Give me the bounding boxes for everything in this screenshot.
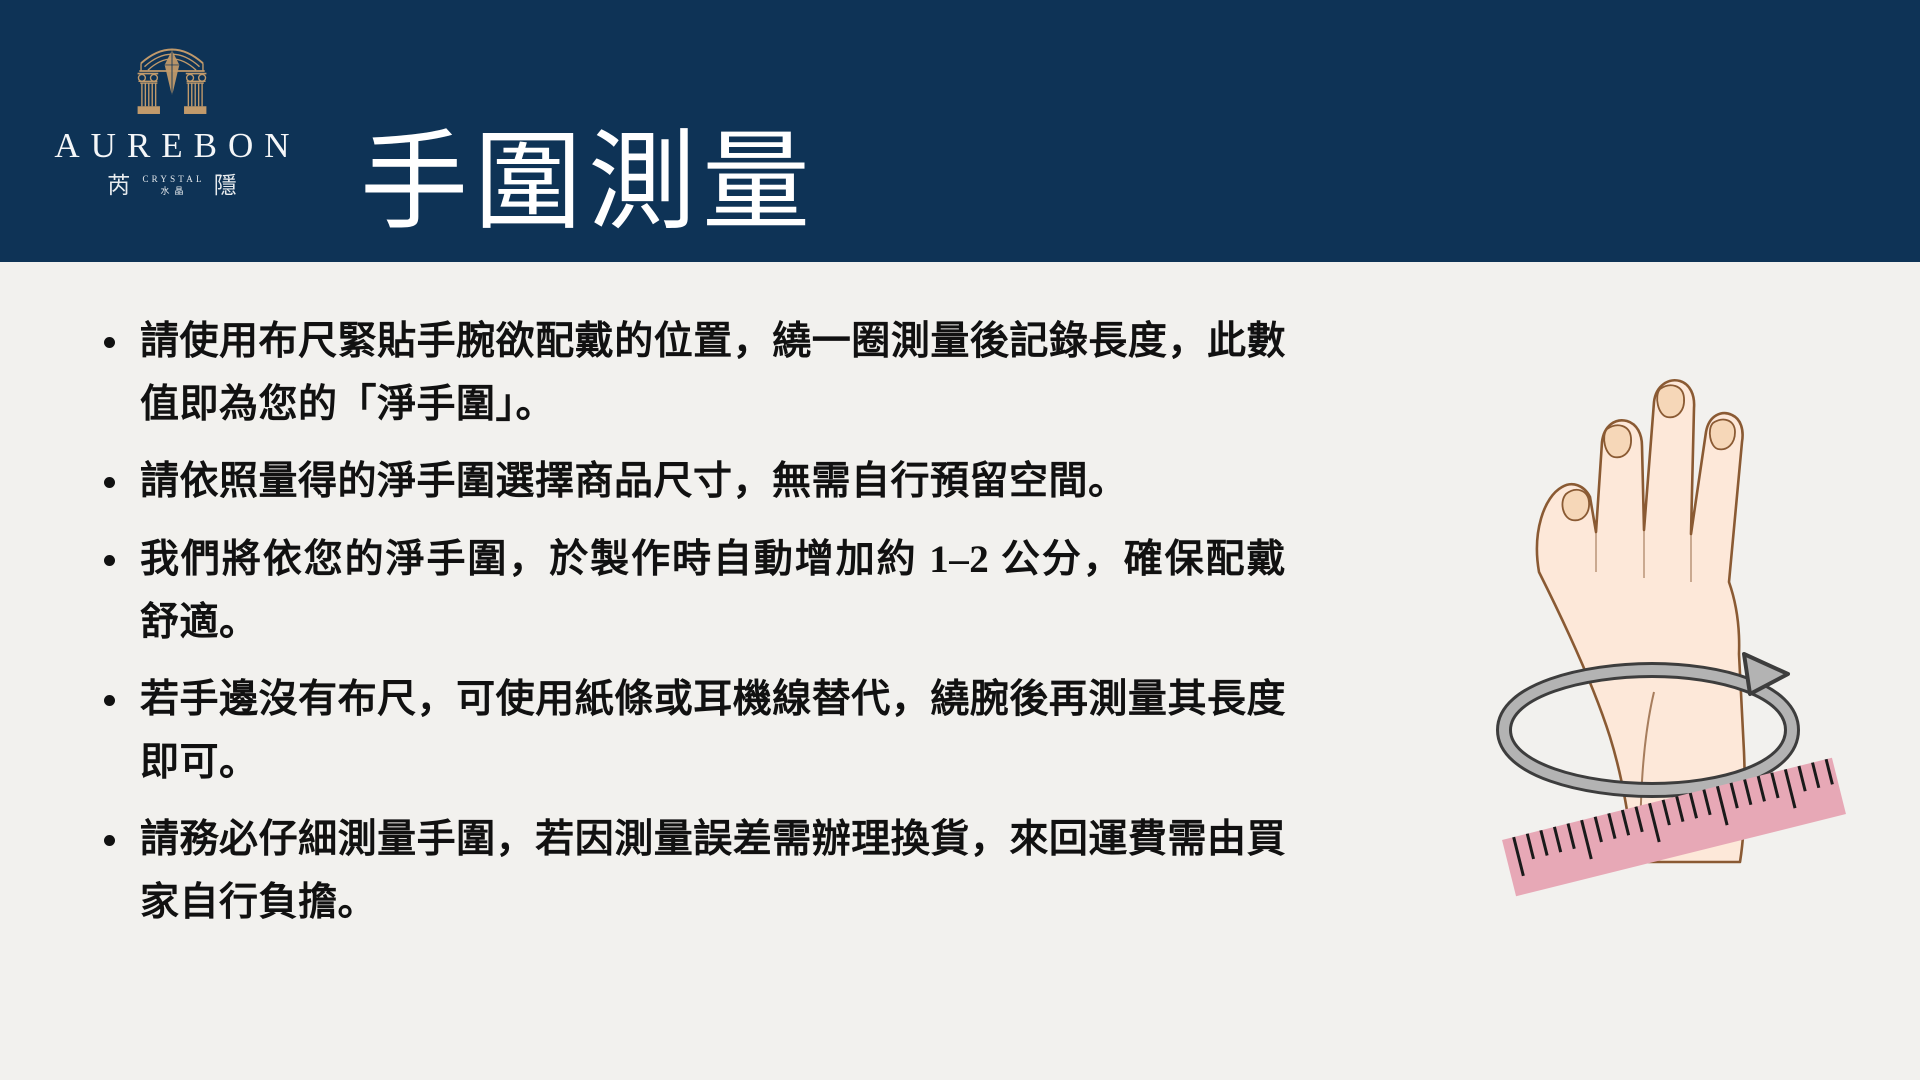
list-item: 請依照量得的淨手圍選擇商品尺寸，無需自行預留空間。: [96, 450, 1286, 513]
brand-cn-first: 芮: [107, 174, 130, 197]
brand-cn-last: 隱: [214, 174, 237, 197]
brand-cn-small: 水晶: [155, 187, 188, 196]
nail: [1710, 420, 1735, 450]
size-guide-page: AUREBON 芮 CRYSTAL 水晶 隱 手圍測量 請使用布尺緊貼手腕欲配戴…: [0, 0, 1920, 1080]
page-content: 請使用布尺緊貼手腕欲配戴的位置，繞一圈測量後記錄長度，此數值即為您的「淨手圍」。…: [0, 262, 1920, 1080]
arch-pillars-crystal-icon: [129, 34, 215, 120]
list-item: 若手邊沒有布尺，可使用紙條或耳機線替代，繞腕後再測量其長度即可。: [96, 668, 1286, 794]
nail: [1562, 490, 1589, 520]
brand-en-small: CRYSTAL: [139, 175, 204, 184]
brand-subtitle: 芮 CRYSTAL 水晶 隱: [107, 174, 236, 197]
hand-measurement-illustration: [1444, 282, 1864, 922]
brand-crystal-stack: CRYSTAL 水晶: [137, 175, 206, 197]
brand-lockup: AUREBON 芮 CRYSTAL 水晶 隱: [36, 34, 308, 234]
list-item: 請務必仔細測量手圍，若因測量誤差需辦理換貨，來回運費需由買家自行負擔。: [96, 808, 1286, 934]
brand-name: AUREBON: [43, 128, 300, 163]
nail: [1657, 385, 1684, 417]
list-item: 我們將依您的淨手圍，於製作時自動增加約 1–2 公分，確保配戴舒適。: [96, 528, 1286, 654]
list-item: 請使用布尺緊貼手腕欲配戴的位置，繞一圈測量後記錄長度，此數值即為您的「淨手圍」。: [96, 310, 1286, 436]
instruction-list: 請使用布尺緊貼手腕欲配戴的位置，繞一圈測量後記錄長度，此數值即為您的「淨手圍」。…: [96, 310, 1286, 949]
nail: [1604, 425, 1631, 457]
page-title: 手圍測量: [360, 120, 816, 247]
page-header: AUREBON 芮 CRYSTAL 水晶 隱 手圍測量: [0, 0, 1920, 262]
